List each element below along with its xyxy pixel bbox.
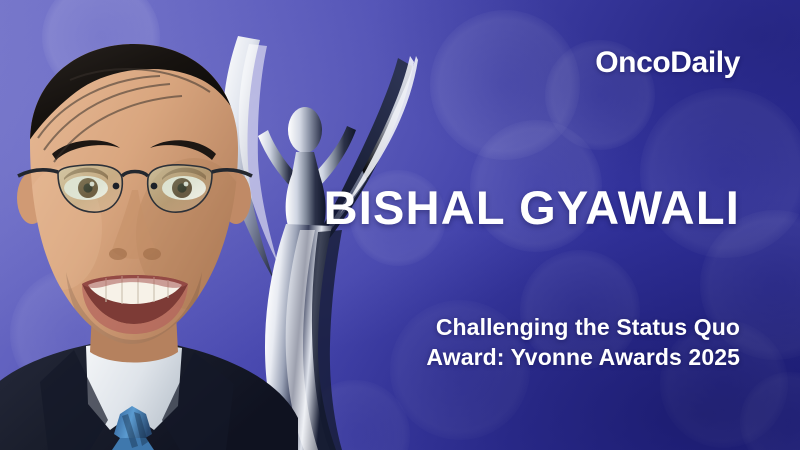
oncodaily-logo[interactable]: OncoDaily: [595, 46, 740, 80]
award-announcement-card: OncoDaily BISHAL GYAWALI Challenging the…: [0, 0, 800, 450]
award-title-line-2: Award: Yvonne Awards 2025: [426, 342, 740, 372]
honoree-name: BISHAL GYAWALI: [324, 180, 740, 235]
honoree-portrait: [0, 22, 312, 450]
award-title-line-1: Challenging the Status Quo: [426, 312, 740, 342]
award-title-block: Challenging the Status Quo Award: Yvonne…: [426, 312, 740, 372]
